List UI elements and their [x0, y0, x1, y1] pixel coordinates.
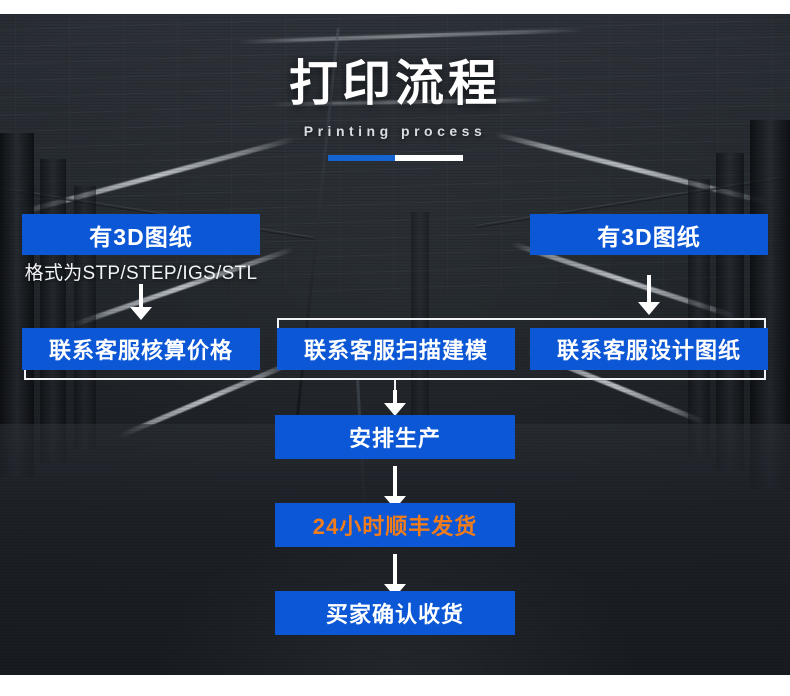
- flow-node-label: 联系客服扫描建模: [304, 333, 488, 365]
- flowchart-banner: 打印流程 Printing process 有3D图纸 有3D图纸 格式为STP…: [0, 0, 790, 696]
- flow-node-arrange-production[interactable]: 安排生产: [275, 415, 515, 459]
- flow-node-label: 联系客服核算价格: [49, 333, 233, 365]
- file-format-note: 格式为STP/STEP/IGS/STL: [22, 258, 260, 285]
- flow-node-label: 联系客服设计图纸: [557, 333, 741, 365]
- flow-node-24h-sf-express-shipping[interactable]: 24小时顺丰发货: [275, 503, 515, 547]
- bottom-white-strip: [0, 675, 790, 696]
- flow-node-contact-service-quote[interactable]: 联系客服核算价格: [22, 328, 260, 370]
- process-flow-diagram: 有3D图纸 有3D图纸 格式为STP/STEP/IGS/STL 联系客服核算价格…: [0, 0, 790, 696]
- flow-node-label: 有3D图纸: [597, 218, 700, 252]
- top-white-strip: [0, 0, 790, 14]
- down-arrow-icon: [130, 284, 152, 320]
- down-arrow-icon: [638, 275, 660, 315]
- flow-node-label: 安排生产: [349, 421, 441, 453]
- flow-node-contact-service-design[interactable]: 联系客服设计图纸: [530, 328, 768, 370]
- flow-node-has-3d-drawing-right[interactable]: 有3D图纸: [530, 214, 768, 255]
- flow-node-label: 有3D图纸: [89, 218, 192, 252]
- connector-line-top-horizontal: [277, 318, 766, 320]
- flow-node-contact-service-scan-model[interactable]: 联系客服扫描建模: [277, 328, 515, 370]
- connector-line-merge-left-tick: [24, 370, 26, 379]
- flow-node-buyer-confirms-receipt[interactable]: 买家确认收货: [275, 591, 515, 635]
- flow-node-label: 24小时顺丰发货: [313, 509, 477, 541]
- connector-line-merge-right-tick: [764, 370, 766, 379]
- flow-node-label: 买家确认收货: [326, 597, 464, 629]
- down-arrow-icon: [384, 390, 406, 416]
- flow-node-has-3d-drawing-left[interactable]: 有3D图纸: [22, 214, 260, 255]
